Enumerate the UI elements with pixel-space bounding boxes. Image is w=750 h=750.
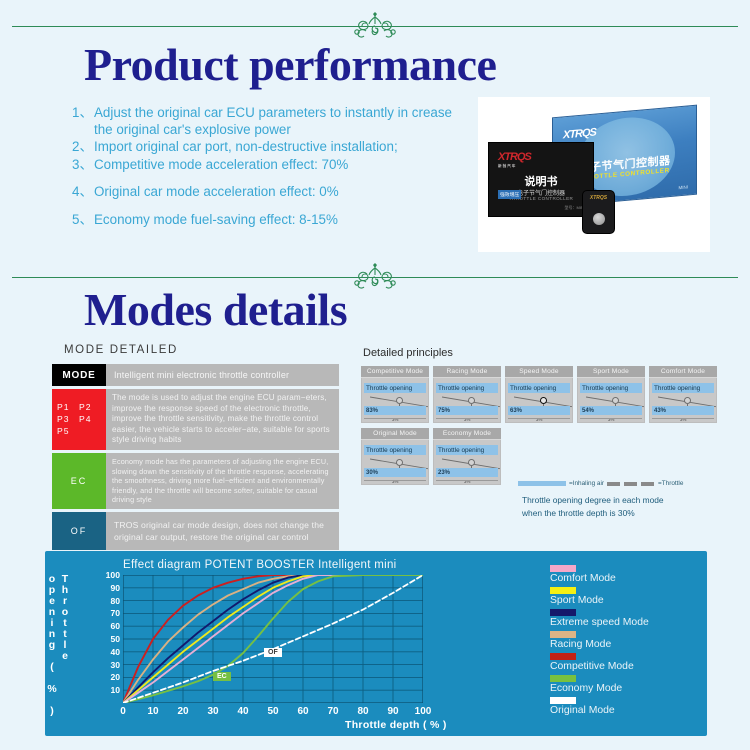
chart-annotation-ec: EC <box>213 672 231 681</box>
chart-y-tick: 20 <box>110 672 120 682</box>
throttle-swatch <box>607 482 655 486</box>
list-item: 1、 Adjust the original car ECU parameter… <box>72 105 472 138</box>
manual-brand-text: XTRQS <box>498 151 531 163</box>
manual-badge: 强效增压 <box>498 190 521 199</box>
chart-x-tick: 70 <box>327 706 338 717</box>
mode-detailed-table: MODE Intelligent mini electronic throttl… <box>52 364 339 553</box>
mode-card-throttle-label: Throttle opening <box>580 383 642 393</box>
chart-curves <box>123 575 423 703</box>
device-logo-label: XTRQS <box>583 195 614 201</box>
chart-legend-swatch <box>550 653 576 660</box>
chart-legend-swatch <box>550 675 576 682</box>
mode-card-body: Throttle opening23%3% <box>433 440 501 485</box>
throttle-label: =Throttle <box>658 480 683 487</box>
box-model-label: MINI <box>679 184 689 190</box>
chart-legend-label: Economy Mode <box>550 682 649 696</box>
table-cell-key: P1 P2 P3 P4 P5 <box>52 389 106 450</box>
mode-principle-card: Sport ModeThrottle opening54%3% <box>577 366 645 423</box>
list-item-number: 4、 <box>72 184 94 201</box>
mode-card-footline <box>580 415 642 419</box>
product-manual: XTRQS 新驰汽车 说明书 电子节气门控制器 THROTTLE CONTROL… <box>488 142 594 217</box>
mode-principle-card: Original ModeThrottle opening30%3% <box>361 428 429 485</box>
mode-principle-card: Comfort ModeThrottle opening43%3% <box>649 366 717 423</box>
principles-legend: =Inhaling air =Throttle <box>518 480 723 487</box>
mode-card-title: Economy Mode <box>433 428 501 440</box>
mode-card-percent: 23% <box>436 468 498 477</box>
principles-note: Throttle opening degree in each mode whe… <box>522 494 722 520</box>
mode-card-marker-icon <box>468 459 475 466</box>
effect-diagram-chart: Effect diagram POTENT BOOSTER Intelligen… <box>45 551 707 736</box>
list-item-label: Import original car port, non-destructiv… <box>94 139 472 156</box>
chart-x-tick: 100 <box>415 706 432 717</box>
feature-list: 1、 Adjust the original car ECU parameter… <box>72 105 472 229</box>
mode-card-title: Original Mode <box>361 428 429 440</box>
chart-legend-item: Competitive Mode <box>550 653 649 674</box>
chart-y-tick: 70 <box>110 608 120 618</box>
mode-card-footline <box>436 477 498 481</box>
chart-legend-swatch <box>550 587 576 594</box>
chart-legend-swatch <box>550 565 576 572</box>
mode-card-body: Throttle opening30%3% <box>361 440 429 485</box>
mode-card-footline <box>364 415 426 419</box>
table-cell-value: Economy mode has the parameters of adjus… <box>106 453 339 509</box>
mode-card-percent: 30% <box>364 468 426 477</box>
mode-card-percent: 43% <box>652 406 714 415</box>
chart-legend-item: Sport Mode <box>550 587 649 608</box>
manual-brand-label: XTRQS 新驰汽车 <box>498 151 531 169</box>
product-photo: XTRQS 电子节气门控制器 THROTTLE CONTROLLER MINI … <box>478 97 710 252</box>
p-mode-key: P5 <box>57 425 75 437</box>
list-item-label: Original car mode acceleration effect: 0… <box>94 184 472 201</box>
mode-card-footline <box>652 415 714 419</box>
chart-x-tick: 0 <box>120 706 126 717</box>
mode-card-throttle-label: Throttle opening <box>508 383 570 393</box>
mode-card-marker-icon <box>396 459 403 466</box>
chart-y-tick: 90 <box>110 583 120 593</box>
principles-note-line-1: Throttle opening degree in each mode <box>522 494 722 507</box>
mode-card-title: Racing Mode <box>433 366 501 378</box>
chart-x-tick: 50 <box>267 706 278 717</box>
chart-y-tick: 30 <box>110 660 120 670</box>
detailed-principles-heading: Detailed principles <box>363 347 453 359</box>
chart-title: Effect diagram POTENT BOOSTER Intelligen… <box>123 559 397 571</box>
chart-y-tick: 100 <box>106 570 120 580</box>
mode-card-body: Throttle opening83%3% <box>361 378 429 423</box>
list-item: 5、 Economy mode fuel-saving effect: 8-15… <box>72 212 472 229</box>
list-item-label: Adjust the original car ECU parameters t… <box>94 105 472 138</box>
mode-principle-card: Racing ModeThrottle opening75%3% <box>433 366 501 423</box>
mode-card-throttle-label: Throttle opening <box>364 383 426 393</box>
mode-card-throttle-label: Throttle opening <box>652 383 714 393</box>
chart-legend-item: Comfort Mode <box>550 565 649 586</box>
chart-y-tick: 10 <box>110 685 120 695</box>
table-row-ec-mode: EC Economy mode has the parameters of ad… <box>52 453 339 509</box>
chart-legend-item: Economy Mode <box>550 675 649 696</box>
chart-x-tick: 20 <box>177 706 188 717</box>
chart-y-tick: 60 <box>110 621 120 631</box>
table-cell-value: TROS original car mode design, does not … <box>106 512 339 550</box>
mode-card-title: Competitive Mode <box>361 366 429 378</box>
table-cell-value: Intelligent mini electronic throttle con… <box>106 364 339 386</box>
table-cell-key: OF <box>52 512 106 550</box>
chart-legend-swatch <box>550 631 576 638</box>
mode-card-percent: 54% <box>580 406 642 415</box>
mode-card-percent: 75% <box>436 406 498 415</box>
inhaling-air-swatch <box>518 481 566 486</box>
chart-x-tick: 90 <box>387 706 398 717</box>
p-mode-key-grid: P1 P2 P3 P4 P5 <box>57 401 101 437</box>
principles-note-line-2: when the throttle depth is 30% <box>522 507 722 520</box>
infographic-page: Product performance 1、 Adjust the origin… <box>0 0 750 750</box>
mode-card-footline <box>364 477 426 481</box>
chart-legend-label: Competitive Mode <box>550 660 649 674</box>
table-cell-key: EC <box>52 453 106 509</box>
chart-y-tick: 80 <box>110 596 120 606</box>
p-mode-key: P3 <box>57 413 75 425</box>
manual-brand-sub: 新驰汽车 <box>498 164 531 169</box>
chart-legend-label: Original Mode <box>550 704 649 718</box>
chart-legend-label: Extreme speed Mode <box>550 616 649 630</box>
table-row-p-modes: P1 P2 P3 P4 P5 The mode is used to adjus… <box>52 389 339 450</box>
chart-y-axis-label: Throttle opening ( % ) <box>53 573 71 736</box>
mode-card-percent: 83% <box>364 406 426 415</box>
chart-legend-item: Extreme speed Mode <box>550 609 649 630</box>
inhaling-air-label: =Inhaling air <box>569 480 604 487</box>
table-row-of-mode: OF TROS original car mode design, does n… <box>52 512 339 550</box>
mode-principle-card: Speed ModeThrottle opening63%3% <box>505 366 573 423</box>
chart-legend: Comfort ModeSport ModeExtreme speed Mode… <box>550 565 649 719</box>
list-item-number: 2、 <box>72 139 94 156</box>
list-item-label: Economy mode fuel-saving effect: 8-15% <box>94 212 472 229</box>
mode-card-throttle-label: Throttle opening <box>364 445 426 455</box>
mode-card-marker-icon <box>684 397 691 404</box>
principles-cards-row-1: Competitive ModeThrottle opening83%3%Rac… <box>361 366 717 423</box>
mode-card-marker-icon <box>396 397 403 404</box>
p-mode-key: P4 <box>79 413 97 425</box>
mode-card-title: Speed Mode <box>505 366 573 378</box>
manual-chinese-title: 说明书 <box>489 173 593 189</box>
mode-card-marker-icon <box>540 397 547 404</box>
page-title-modes-details: Modes details <box>84 283 347 336</box>
mode-card-footline <box>436 415 498 419</box>
list-item-number: 3、 <box>72 157 94 174</box>
mode-card-throttle-label: Throttle opening <box>436 383 498 393</box>
list-item: 2、 Import original car port, non-destruc… <box>72 139 472 156</box>
chart-y-tick: 40 <box>110 647 120 657</box>
chart-x-axis-label: Throttle depth ( % ) <box>345 719 447 731</box>
mode-detailed-heading: MODE DETAILED <box>64 344 178 356</box>
mode-card-marker-icon <box>612 397 619 404</box>
chart-legend-item: Original Mode <box>550 697 649 718</box>
throttle-controller-device: XTRQS <box>582 190 615 234</box>
chart-legend-label: Sport Mode <box>550 594 649 608</box>
p-mode-key: P2 <box>79 401 97 413</box>
p-mode-key: P1 <box>57 401 75 413</box>
chart-annotation-of: OF <box>264 648 282 657</box>
chart-x-tick: 30 <box>207 706 218 717</box>
mode-card-percent: 63% <box>508 406 570 415</box>
table-row-mode-header: MODE Intelligent mini electronic throttl… <box>52 364 339 386</box>
list-item-label: Competitive mode acceleration effect: 70… <box>94 157 472 174</box>
mode-card-body: Throttle opening75%3% <box>433 378 501 423</box>
list-item-number: 1、 <box>72 105 94 122</box>
mode-principle-card: Economy ModeThrottle opening23%3% <box>433 428 501 485</box>
chart-legend-label: Racing Mode <box>550 638 649 652</box>
chart-legend-swatch <box>550 697 576 704</box>
mode-card-footline <box>508 415 570 419</box>
chart-x-tick: 80 <box>357 706 368 717</box>
chart-plot-area: 102030405060708090100 010203040506070809… <box>123 575 423 703</box>
legend-row: =Inhaling air =Throttle <box>518 480 723 487</box>
mode-principle-card: Competitive ModeThrottle opening83%3% <box>361 366 429 423</box>
mode-card-throttle-label: Throttle opening <box>436 445 498 455</box>
page-title-product-performance: Product performance <box>84 38 496 91</box>
table-cell-value: The mode is used to adjust the engine EC… <box>106 389 339 450</box>
list-item-number: 5、 <box>72 212 94 229</box>
chart-x-tick: 60 <box>297 706 308 717</box>
device-knob-icon <box>593 213 605 225</box>
chart-legend-label: Comfort Mode <box>550 572 649 586</box>
list-item: 4、 Original car mode acceleration effect… <box>72 184 472 201</box>
mode-card-body: Throttle opening54%3% <box>577 378 645 423</box>
chart-y-tick: 50 <box>110 634 120 644</box>
chart-x-tick: 40 <box>237 706 248 717</box>
chart-legend-item: Racing Mode <box>550 631 649 652</box>
mode-card-body: Throttle opening63%3% <box>505 378 573 423</box>
mode-card-title: Sport Mode <box>577 366 645 378</box>
chart-x-tick: 10 <box>147 706 158 717</box>
table-cell-key: MODE <box>52 364 106 386</box>
chart-legend-swatch <box>550 609 576 616</box>
list-item: 3、 Competitive mode acceleration effect:… <box>72 157 472 174</box>
mode-card-title: Comfort Mode <box>649 366 717 378</box>
principles-cards-row-2: Original ModeThrottle opening30%3%Econom… <box>361 428 501 485</box>
mode-card-marker-icon <box>468 397 475 404</box>
mode-card-body: Throttle opening43%3% <box>649 378 717 423</box>
